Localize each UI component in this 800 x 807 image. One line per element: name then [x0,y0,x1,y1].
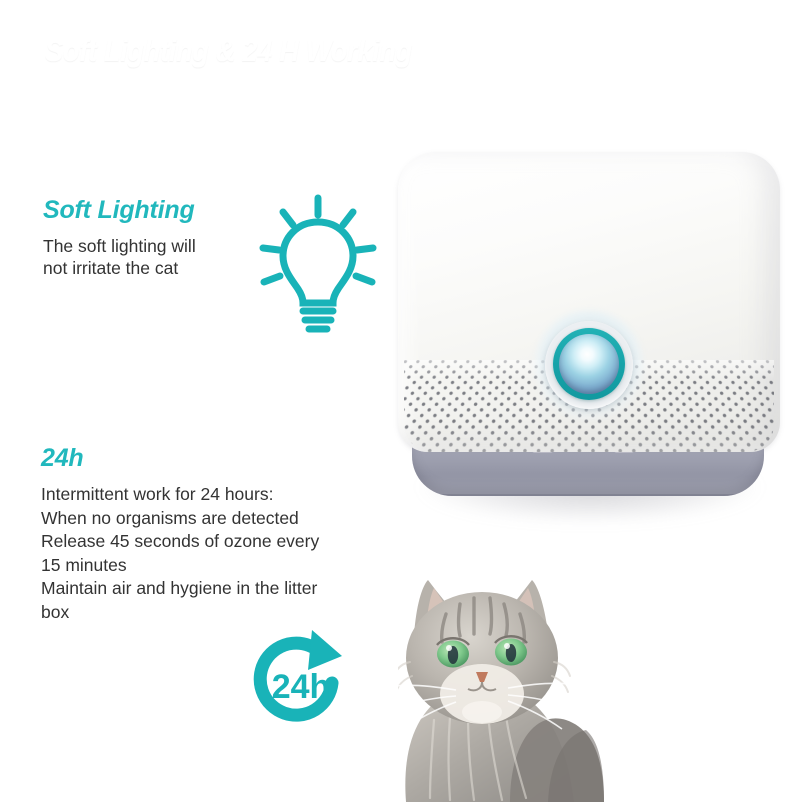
section-soft-lighting: Soft Lighting The soft lighting will not… [43,196,273,279]
cat-photo [398,570,728,802]
power-button[interactable] [559,334,619,394]
section-heading-soft-lighting: Soft Lighting [43,196,273,225]
24h-icon-label: 24h [272,668,331,706]
section-heading-24h: 24h [41,444,401,473]
banner-title: Soft Lighting & 24 H Working [45,33,412,69]
24h-cycle-icon: 24h [246,626,361,738]
header-banner: Soft Lighting & 24 H Working [0,0,800,97]
product-device [398,152,780,542]
section-body-soft-lighting: The soft lighting will not irritate the … [43,235,273,279]
section-24h: 24h Intermittent work for 24 hours: When… [41,444,401,624]
section-body-24h: Intermittent work for 24 hours: When no … [41,483,401,624]
lightbulb-icon [255,192,380,337]
